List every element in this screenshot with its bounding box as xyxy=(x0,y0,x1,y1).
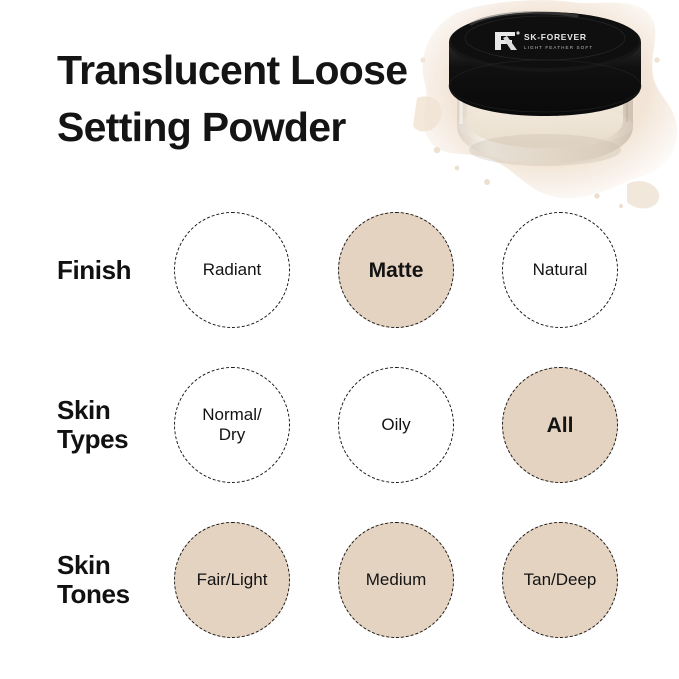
option-oily[interactable]: Oily xyxy=(338,367,454,483)
attribute-matrix: Finish Radiant Matte Natural Skin Types … xyxy=(0,0,679,679)
option-label: Oily xyxy=(375,415,416,435)
row-label-line: Tones xyxy=(57,580,175,609)
attribute-row-finish: Finish Radiant Matte Natural xyxy=(0,212,679,328)
option-label: Tan/Deep xyxy=(518,570,603,590)
option-label-line: Normal/ xyxy=(202,405,262,425)
row-label-skin-types: Skin Types xyxy=(57,396,175,454)
option-natural[interactable]: Natural xyxy=(502,212,618,328)
option-label-line: Dry xyxy=(202,425,262,445)
option-tan-deep[interactable]: Tan/Deep xyxy=(502,522,618,638)
option-label: All xyxy=(541,414,580,437)
option-fair-light[interactable]: Fair/Light xyxy=(174,522,290,638)
option-label: Radiant xyxy=(197,260,268,280)
option-normal-dry[interactable]: Normal/ Dry xyxy=(174,367,290,483)
option-label: Matte xyxy=(363,259,430,282)
row-label-line: Skin xyxy=(57,551,175,580)
row-label-skin-tones: Skin Tones xyxy=(57,551,175,609)
option-matte[interactable]: Matte xyxy=(338,212,454,328)
attribute-row-skin-types: Skin Types Normal/ Dry Oily All xyxy=(0,367,679,483)
row-label-line: Types xyxy=(57,425,175,454)
option-all[interactable]: All xyxy=(502,367,618,483)
row-label-line: Skin xyxy=(57,396,175,425)
option-label: Medium xyxy=(360,570,432,590)
row-label-finish: Finish xyxy=(57,256,175,285)
option-medium[interactable]: Medium xyxy=(338,522,454,638)
product-infographic: SK-FOREVER LIGHT FEATHER SOFT Translucen… xyxy=(0,0,679,679)
attribute-row-skin-tones: Skin Tones Fair/Light Medium Tan/Deep xyxy=(0,522,679,638)
option-radiant[interactable]: Radiant xyxy=(174,212,290,328)
row-label-line: Finish xyxy=(57,256,175,285)
option-label: Normal/ Dry xyxy=(196,405,268,445)
option-label: Fair/Light xyxy=(191,570,274,590)
option-label: Natural xyxy=(527,260,594,280)
